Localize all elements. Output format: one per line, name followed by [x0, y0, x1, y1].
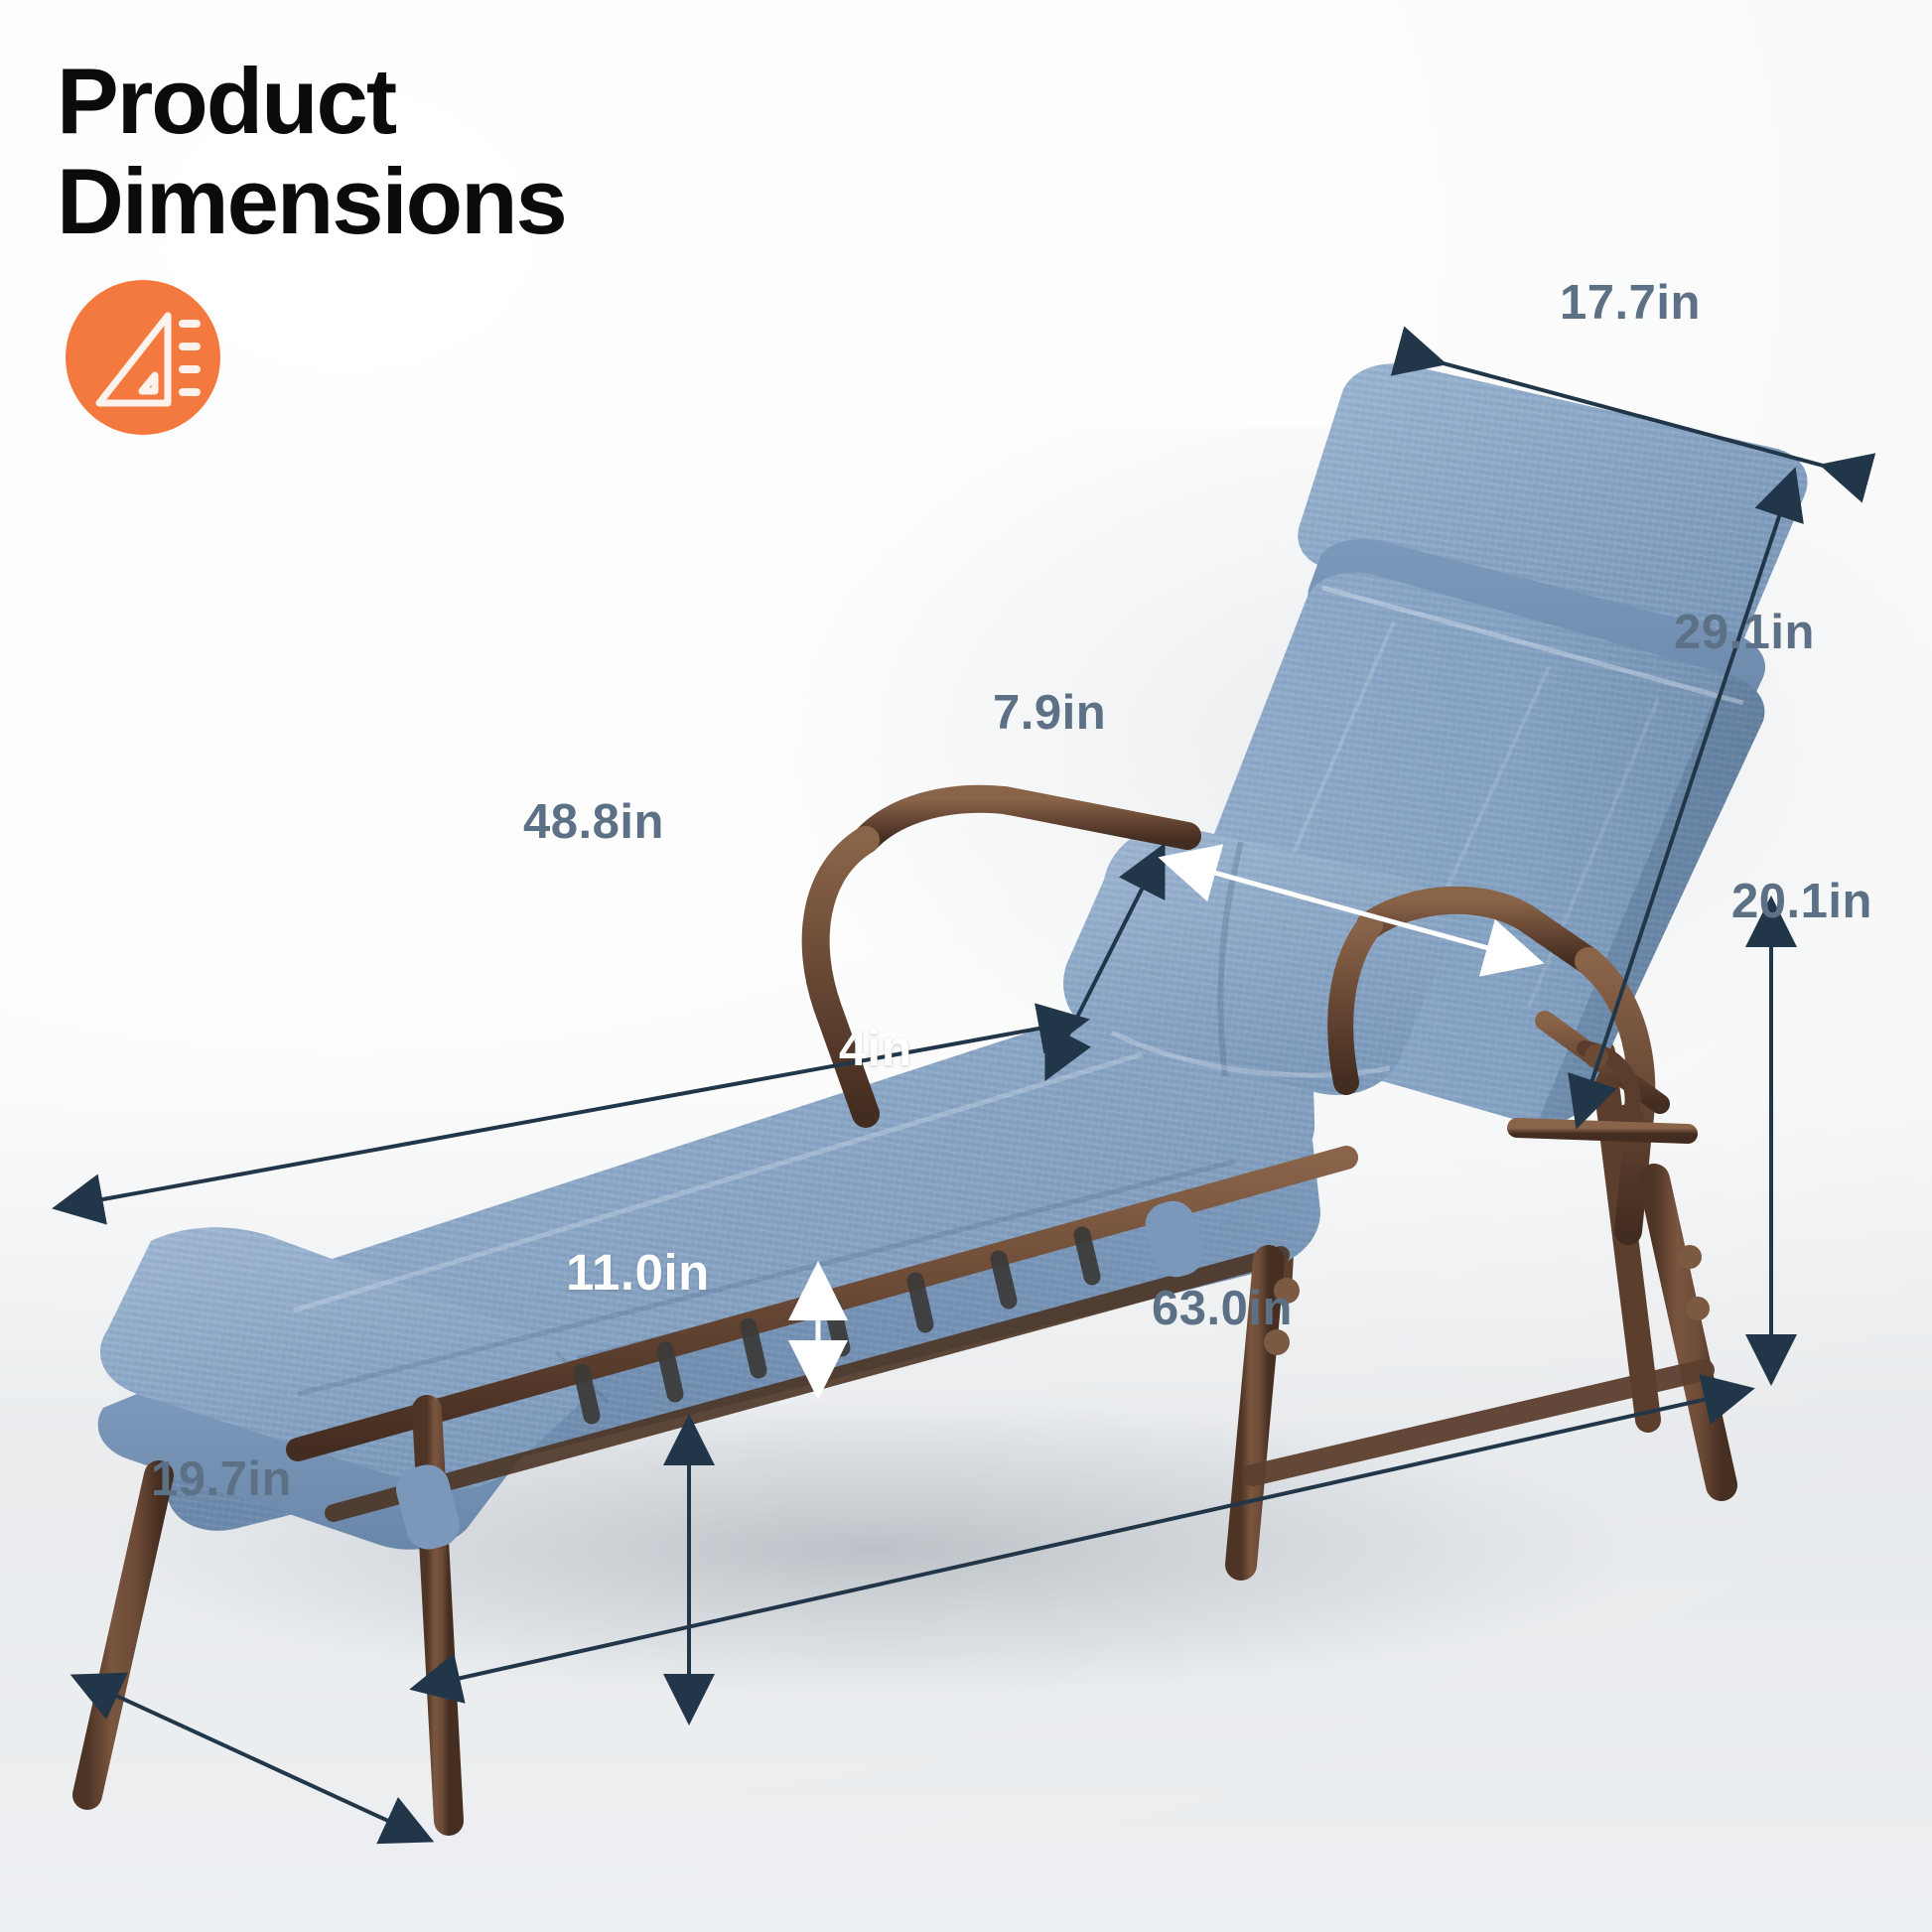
- dimension-label-overall-width: 19.7in: [151, 1451, 292, 1507]
- dimension-label-lumbar-pillow: 7.9in: [993, 685, 1106, 741]
- dimension-label-width-top: 17.7in: [1560, 275, 1701, 331]
- product-dimensions-infographic: ProductDimensions 17.7in 29.1in 7.9in 48…: [0, 0, 1932, 1932]
- dimension-label-overall-length: 63.0in: [1152, 1281, 1293, 1336]
- dimension-label-seat-height-right: 20.1in: [1731, 874, 1872, 929]
- dimension-label-seat-length: 48.8in: [523, 794, 664, 850]
- frame-rear: [1281, 1052, 1648, 1420]
- ruler-triangle-icon: [66, 280, 220, 435]
- dimension-label-cushion-thickness: 4in: [839, 1020, 912, 1077]
- dimension-label-seat-height-left: 11.0in: [566, 1243, 710, 1302]
- page-title-line1: Product: [57, 49, 395, 153]
- dimension-label-backrest-height: 29.1in: [1674, 605, 1815, 660]
- page-title: ProductDimensions: [57, 52, 566, 251]
- page-title-line2: Dimensions: [57, 149, 566, 253]
